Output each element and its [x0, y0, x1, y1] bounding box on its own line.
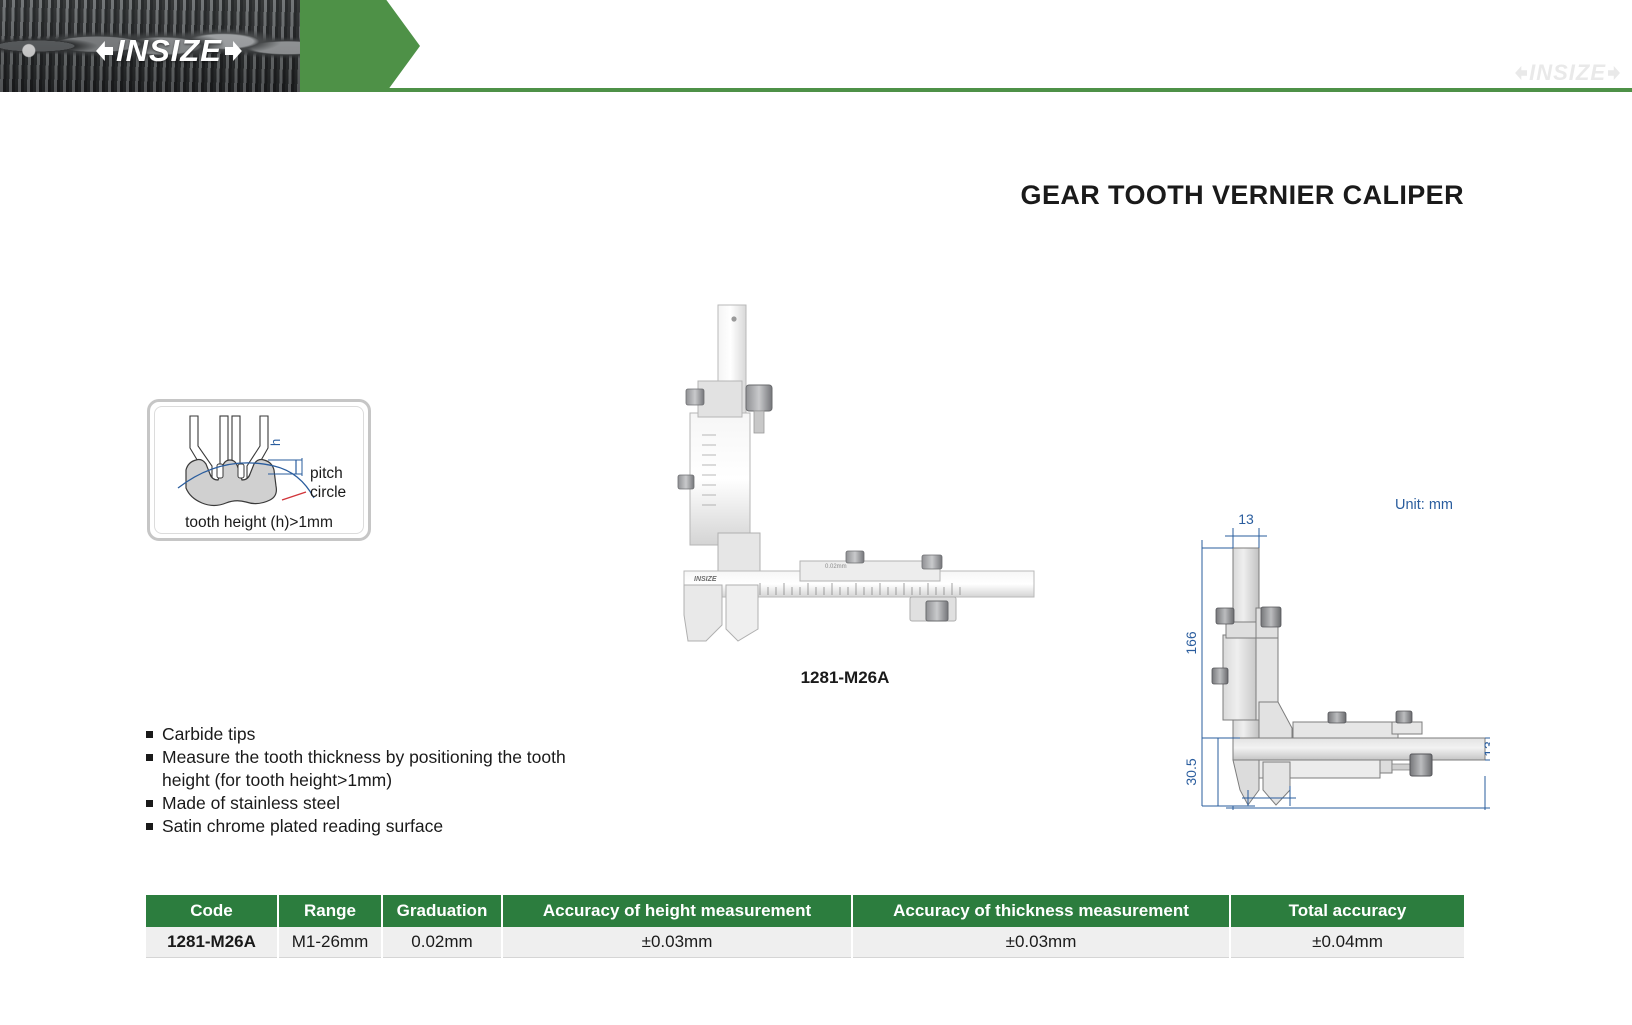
dim-lower-left: 30.5	[1183, 758, 1199, 785]
watermark-logo-text: INSIZE	[1529, 60, 1606, 86]
feature-list: Carbide tips Measure the tooth thickness…	[146, 723, 616, 838]
measuring-principle-diagram: h pitch circle tooth height (h)>1mm	[147, 399, 371, 541]
col-header-total-accuracy: Total accuracy	[1230, 895, 1464, 927]
feature-text: Carbide tips	[162, 723, 616, 746]
pitch-label-line1: pitch	[310, 464, 346, 483]
diagram-h-label: h	[268, 439, 283, 446]
product-model-label: 1281-M26A	[650, 668, 1040, 688]
table-row: 1281-M26A M1-26mm 0.02mm ±0.03mm ±0.03mm…	[146, 927, 1464, 958]
list-item: Made of stainless steel	[146, 792, 616, 815]
list-item: Measure the tooth thickness by positioni…	[146, 746, 616, 792]
specification-table: Code Range Graduation Accuracy of height…	[146, 895, 1464, 958]
insize-logo-text: INSIZE	[116, 33, 222, 69]
list-item: Satin chrome plated reading surface	[146, 815, 616, 838]
header-green-rule	[360, 88, 1632, 92]
svg-text:0.02mm: 0.02mm	[825, 564, 847, 570]
dimension-drawing-svg: 13 166 30.5 21 166 13	[1130, 490, 1490, 810]
dim-left-height: 166	[1183, 631, 1199, 655]
bullet-square-icon	[146, 823, 153, 830]
gear-tooth-caliper-image: INSIZE 0.02mm	[650, 285, 1040, 645]
cell-code: 1281-M26A	[146, 927, 278, 958]
col-header-accuracy-thickness: Accuracy of thickness measurement	[852, 895, 1230, 927]
page-title: GEAR TOOTH VERNIER CALIPER	[1021, 180, 1464, 211]
dim-top-width: 13	[1238, 511, 1254, 527]
watermark-arrow-left-icon	[1515, 66, 1527, 80]
header-green-arrow	[300, 0, 420, 92]
cell-accuracy-thickness: ±0.03mm	[852, 927, 1230, 958]
col-header-accuracy-height: Accuracy of height measurement	[502, 895, 852, 927]
diagram-caption: tooth height (h)>1mm	[150, 514, 368, 532]
cell-accuracy-height: ±0.03mm	[502, 927, 852, 958]
bullet-square-icon	[146, 754, 153, 761]
table-header-row: Code Range Graduation Accuracy of height…	[146, 895, 1464, 927]
dimension-drawing: 13 166 30.5 21 166 13	[1130, 490, 1490, 810]
diagram-pitch-circle-label: pitch circle	[310, 464, 346, 502]
list-item: Carbide tips	[146, 723, 616, 746]
product-photo: INSIZE 0.02mm	[650, 285, 1040, 645]
bullet-square-icon	[146, 800, 153, 807]
feature-text: Measure the tooth thickness by positioni…	[162, 746, 616, 792]
svg-text:INSIZE: INSIZE	[694, 576, 717, 583]
bullet-square-icon	[146, 731, 153, 738]
insize-watermark-logo: INSIZE	[1515, 60, 1620, 86]
logo-arrow-left-icon	[96, 41, 113, 61]
watermark-arrow-right-icon	[1608, 66, 1620, 80]
dim-right-height: 13	[1481, 741, 1490, 757]
cell-range: M1-26mm	[278, 927, 382, 958]
dim-bottom-small: 21	[1261, 807, 1277, 810]
feature-text: Made of stainless steel	[162, 792, 616, 815]
page-header: INSIZE	[0, 0, 1632, 96]
insize-logo: INSIZE	[96, 33, 242, 69]
logo-arrow-right-icon	[225, 41, 242, 61]
col-header-range: Range	[278, 895, 382, 927]
col-header-graduation: Graduation	[382, 895, 502, 927]
cell-total-accuracy: ±0.04mm	[1230, 927, 1464, 958]
cell-graduation: 0.02mm	[382, 927, 502, 958]
feature-text: Satin chrome plated reading surface	[162, 815, 616, 838]
pitch-label-line2: circle	[310, 483, 346, 502]
col-header-code: Code	[146, 895, 278, 927]
